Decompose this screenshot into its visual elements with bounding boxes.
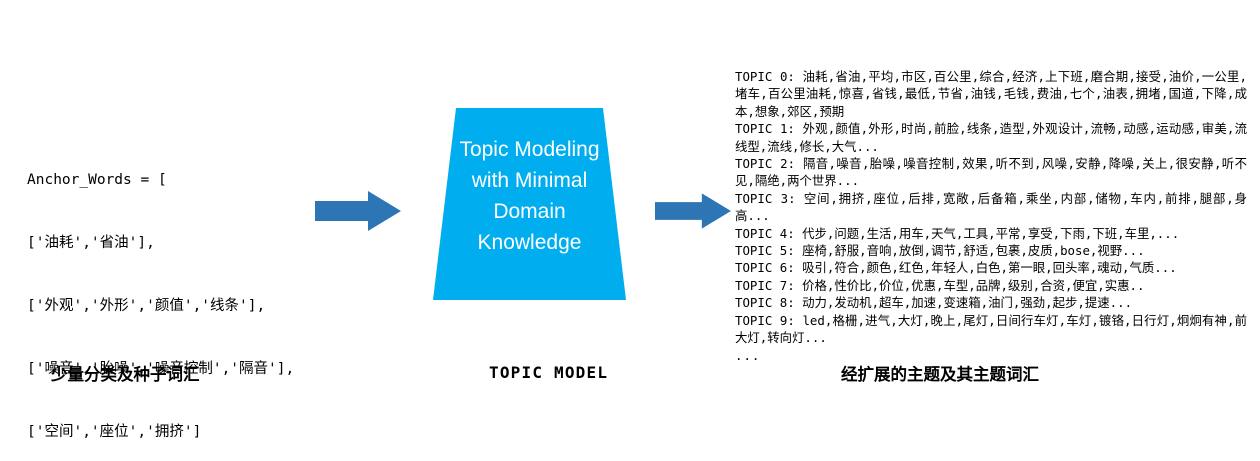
- topic-words: 空间,拥挤,座位,后排,宽敞,后备箱,乘坐,内部,储物,车内,前排,腿部,身高.…: [735, 191, 1247, 223]
- anchor-words-line: Anchor_Words = [: [27, 170, 294, 191]
- topic-line: TOPIC 8: 动力,发动机,超车,加速,变速箱,油门,强劲,起步,提速...: [735, 294, 1247, 311]
- anchor-words-code-block: Anchor_Words = [ ['油耗','省油'], ['外观','外形'…: [27, 128, 294, 461]
- topic-label: TOPIC 6:: [735, 260, 795, 275]
- topic-label: TOPIC 2:: [735, 156, 795, 171]
- anchor-words-line: ['油耗','省油'],: [27, 233, 294, 254]
- topic-results-list: TOPIC 0: 油耗,省油,平均,市区,百公里,综合,经济,上下班,磨合期,接…: [735, 68, 1247, 364]
- topic-line: TOPIC 7: 价格,性价比,价位,优惠,车型,品牌,级别,合资,便宜,实惠.…: [735, 277, 1247, 294]
- topic-label: TOPIC 5:: [735, 243, 795, 258]
- topic-label: TOPIC 4:: [735, 226, 795, 241]
- topic-model-shape: Topic Modeling with Minimal Domain Knowl…: [433, 108, 626, 300]
- topic-model-label: Topic Modeling with Minimal Domain Knowl…: [433, 134, 626, 258]
- topic-label: TOPIC 7:: [735, 278, 795, 293]
- anchor-words-line: ['空间','座位','拥挤']: [27, 422, 294, 443]
- arrow-right-icon: [655, 191, 731, 231]
- topic-words: 动力,发动机,超车,加速,变速箱,油门,强劲,起步,提速...: [802, 295, 1132, 310]
- topic-line: TOPIC 2: 隔音,噪音,胎噪,噪音控制,效果,听不到,风噪,安静,降噪,关…: [735, 155, 1247, 190]
- topic-words: 座椅,舒服,音响,放倒,调节,舒适,包裹,皮质,bose,视野...: [802, 243, 1144, 258]
- caption-center: TOPIC MODEL: [489, 363, 608, 382]
- topic-line: TOPIC 3: 空间,拥挤,座位,后排,宽敞,后备箱,乘坐,内部,储物,车内,…: [735, 190, 1247, 225]
- anchor-words-line: ['外观','外形','颜值','线条'],: [27, 296, 294, 317]
- topic-line: TOPIC 4: 代步,问题,生活,用车,天气,工具,平常,享受,下雨,下班,车…: [735, 225, 1247, 242]
- topic-words: 外观,颜值,外形,时尚,前脸,线条,造型,外观设计,流畅,动感,运动感,审美,流…: [735, 121, 1247, 153]
- arrow-right-icon: [315, 191, 401, 231]
- topic-words: 代步,问题,生活,用车,天气,工具,平常,享受,下雨,下班,车里,...: [802, 226, 1179, 241]
- topic-label: TOPIC 0:: [735, 69, 795, 84]
- topic-label: TOPIC 8:: [735, 295, 795, 310]
- topic-words: 价格,性价比,价位,优惠,车型,品牌,级别,合资,便宜,实惠..: [802, 278, 1144, 293]
- figure-canvas: Anchor_Words = [ ['油耗','省油'], ['外观','外形'…: [0, 0, 1260, 461]
- topic-words: led,格栅,进气,大灯,晚上,尾灯,日间行车灯,车灯,镀铬,日行灯,炯炯有神,…: [735, 313, 1247, 345]
- caption-right: 经扩展的主题及其主题词汇: [841, 361, 1039, 385]
- topic-line: TOPIC 5: 座椅,舒服,音响,放倒,调节,舒适,包裹,皮质,bose,视野…: [735, 242, 1247, 259]
- topic-words: 隔音,噪音,胎噪,噪音控制,效果,听不到,风噪,安静,降噪,关上,很安静,听不见…: [735, 156, 1247, 188]
- topic-words: 油耗,省油,平均,市区,百公里,综合,经济,上下班,磨合期,接受,油价,一公里,…: [735, 69, 1247, 119]
- topic-line: TOPIC 0: 油耗,省油,平均,市区,百公里,综合,经济,上下班,磨合期,接…: [735, 68, 1247, 120]
- topic-label: TOPIC 9:: [735, 313, 795, 328]
- topic-line: TOPIC 1: 外观,颜值,外形,时尚,前脸,线条,造型,外观设计,流畅,动感…: [735, 120, 1247, 155]
- topic-line: TOPIC 9: led,格栅,进气,大灯,晚上,尾灯,日间行车灯,车灯,镀铬,…: [735, 312, 1247, 347]
- topic-line: TOPIC 6: 吸引,符合,颜色,红色,年轻人,白色,第一眼,回头率,魂动,气…: [735, 259, 1247, 276]
- caption-left: 少量分类及种子词汇: [51, 361, 200, 385]
- topic-label: TOPIC 3:: [735, 191, 796, 206]
- topic-label: TOPIC 1:: [735, 121, 795, 136]
- topic-words: 吸引,符合,颜色,红色,年轻人,白色,第一眼,回头率,魂动,气质...: [802, 260, 1177, 275]
